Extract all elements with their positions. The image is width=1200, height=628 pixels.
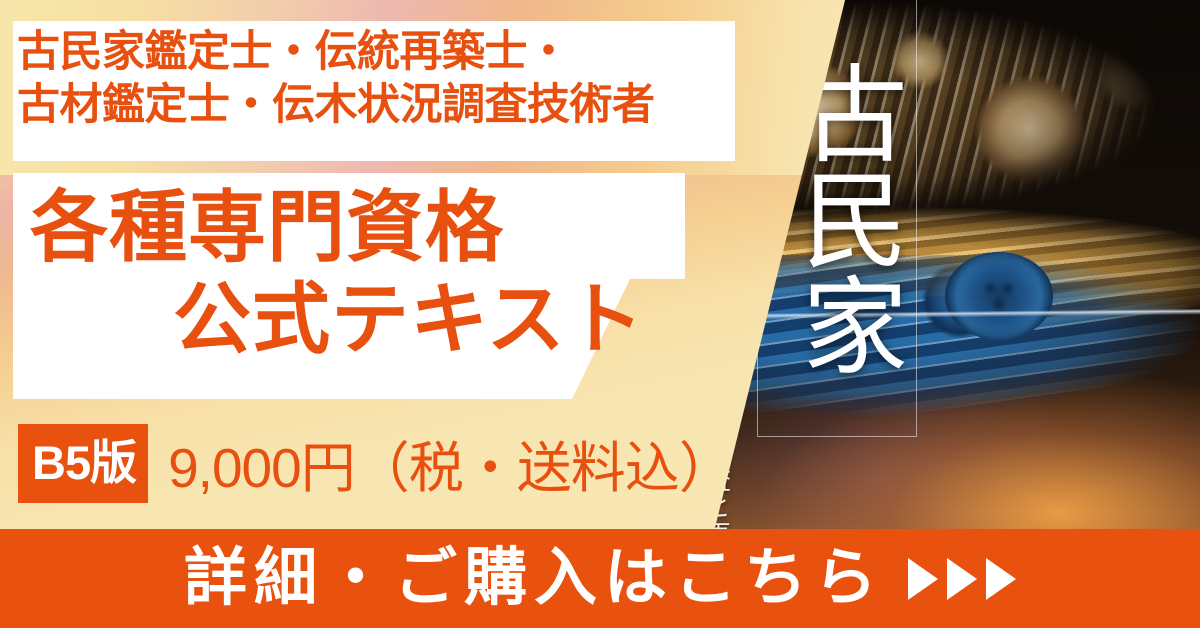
price-row: B5版 9,000円（税・送料込） <box>18 423 733 503</box>
cta-label: 詳細・ご購入はこちら <box>184 547 884 610</box>
qualifications-text: 古民家鑑定士・伝統再築士・ 古材鑑定士・伝木状況調査技術者 <box>17 26 733 133</box>
format-badge: B5版 <box>18 424 148 503</box>
headline-line-2: 公式テキスト <box>13 274 685 364</box>
headline-text: 各種専門資格 公式テキスト <box>13 182 685 365</box>
cta-bar[interactable]: 詳細・ご購入はこちら <box>0 529 1200 628</box>
promotional-banner: 古民家 伝統構法 古民家活用のための調査と再生の 古民家鑑定士・伝統再築士・ 古… <box>0 0 1200 628</box>
qualifications-line-1: 古民家鑑定士・伝統再築士・ <box>17 26 733 79</box>
play-arrow-icon <box>908 558 938 600</box>
cta-arrows <box>908 558 1016 600</box>
play-arrow-icon <box>947 558 977 600</box>
play-arrow-icon <box>986 558 1016 600</box>
headline-line-1: 各種専門資格 <box>13 182 685 272</box>
qualifications-line-2: 古材鑑定士・伝木状況調査技術者 <box>17 79 733 132</box>
price-amount: 9,000円（税・送料込） <box>168 423 733 503</box>
